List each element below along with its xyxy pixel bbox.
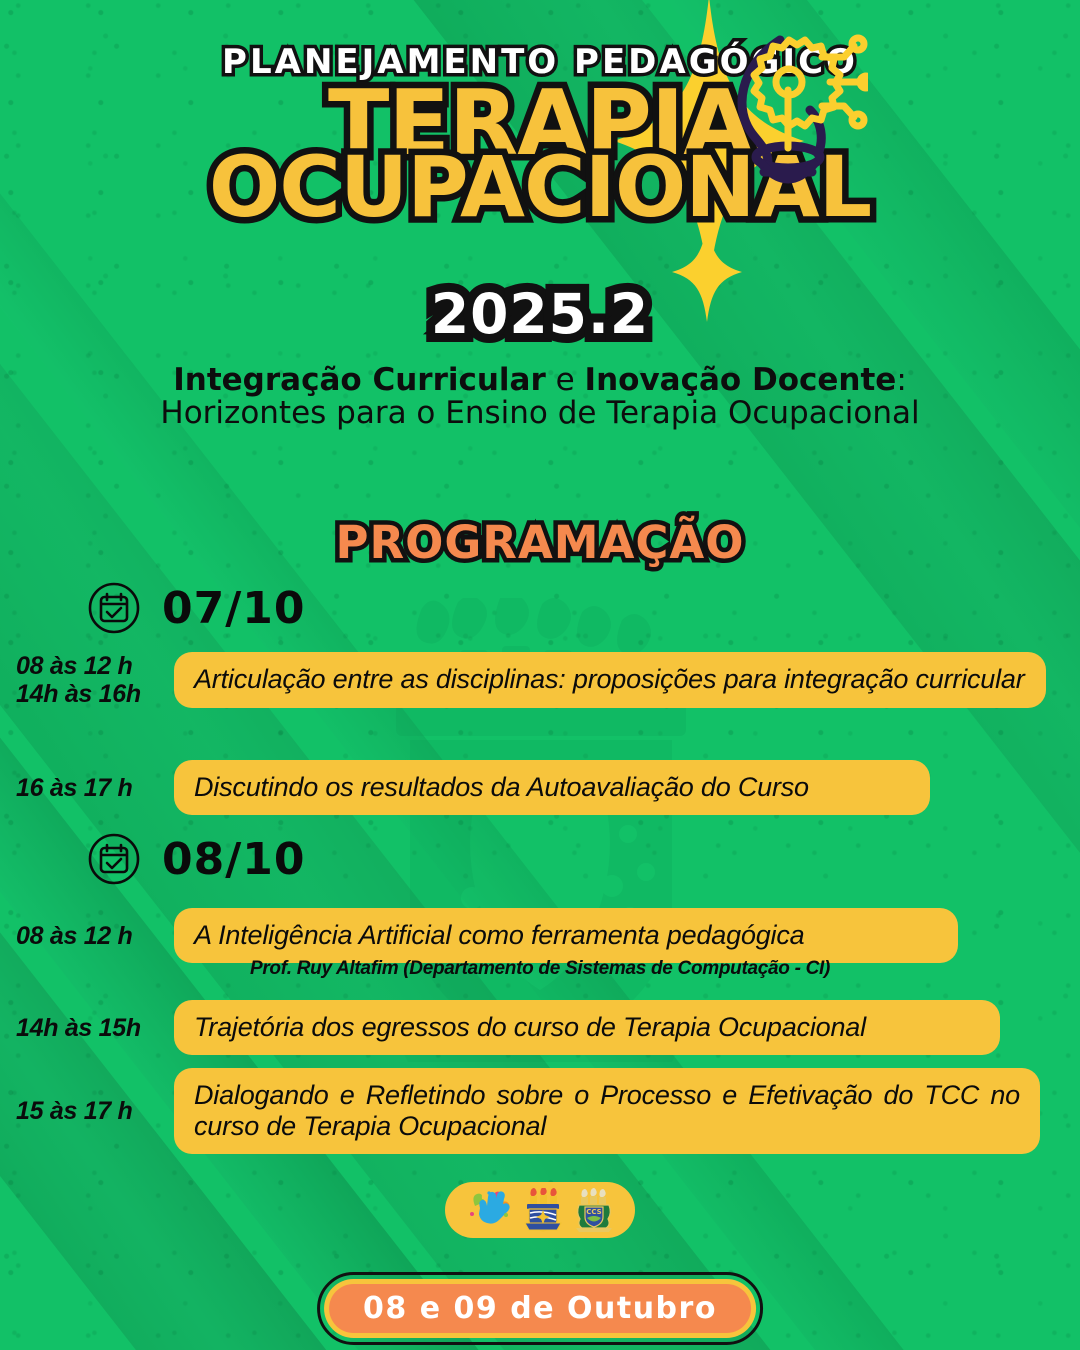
schedule-time: 16 às 17 h <box>0 774 174 802</box>
calendar-check-icon <box>88 582 140 634</box>
day-header-07-10: 07/10 <box>88 582 306 634</box>
event-date-badge-ring: 08 e 09 de Outubro <box>324 1279 756 1338</box>
schedule-title: A Inteligência Artificial como ferrament… <box>174 908 958 963</box>
day-header-08-10: 08/10 <box>88 833 306 885</box>
schedule-row: 08 às 12 h 14h às 16h Articulação entre … <box>0 652 1046 708</box>
schedule-row: 14h às 15h Trajetória dos egressos do cu… <box>0 1000 1000 1055</box>
poster-header: PLANEJAMENTO PEDAGÓGICO TERAPIA OCUPACIO… <box>0 0 1080 500</box>
schedule-title: Dialogando e Refletindo sobre o Processo… <box>174 1068 1040 1154</box>
schedule-title: Trajetória dos egressos do curso de Tera… <box>174 1000 1000 1055</box>
event-date-badge: 08 e 09 de Outubro <box>317 1272 763 1345</box>
lightbulb-gear-circuit-icon <box>718 24 868 194</box>
schedule-time: 14h às 15h <box>0 1014 174 1042</box>
schedule-title: Discutindo os resultados da Autoavaliaçã… <box>174 760 930 815</box>
ufpb-crest-logo <box>523 1188 563 1232</box>
institution-logo-bar: CCS <box>445 1182 635 1238</box>
poster-subtitle: Integração Curricular e Inovação Docente… <box>130 364 950 431</box>
poster-canvas: PLANEJAMENTO PEDAGÓGICO TERAPIA OCUPACIO… <box>0 0 1080 1350</box>
terapia-ocupacional-hand-logo <box>467 1190 511 1230</box>
schedule-row: 08 às 12 h A Inteligência Artificial com… <box>0 908 958 963</box>
day-label-07-10: 07/10 <box>162 583 306 634</box>
schedule-time: 08 às 12 h <box>0 922 174 950</box>
schedule-time: 15 às 17 h <box>0 1097 174 1125</box>
subtitle-conjunction: e <box>546 362 585 398</box>
schedule-title: Articulação entre as disciplinas: propos… <box>174 652 1046 707</box>
programacao-heading: PROGRAMAÇÃO <box>0 516 1080 569</box>
day-label-08-10: 08/10 <box>162 834 306 885</box>
calendar-check-icon <box>88 833 140 885</box>
schedule-credit: Prof. Ruy Altafim (Departamento de Siste… <box>0 958 1080 980</box>
ccs-crest-logo: CCS <box>575 1188 613 1232</box>
subtitle-bold-1: Integração Curricular <box>173 362 546 398</box>
subtitle-bold-2: Inovação Docente <box>585 362 897 398</box>
schedule-time: 08 às 12 h 14h às 16h <box>0 652 174 708</box>
year-badge: 2025.2 <box>0 282 1080 346</box>
year-badge-label: 2025.2 <box>425 282 655 346</box>
event-date-label: 08 e 09 de Outubro <box>329 1284 751 1333</box>
schedule-row: 15 às 17 h Dialogando e Refletindo sobre… <box>0 1068 1040 1154</box>
schedule-row: 16 às 17 h Discutindo os resultados da A… <box>0 760 930 815</box>
poster-title-line2: OCUPACIONAL <box>0 148 1080 227</box>
svg-text:CCS: CCS <box>586 1208 601 1216</box>
